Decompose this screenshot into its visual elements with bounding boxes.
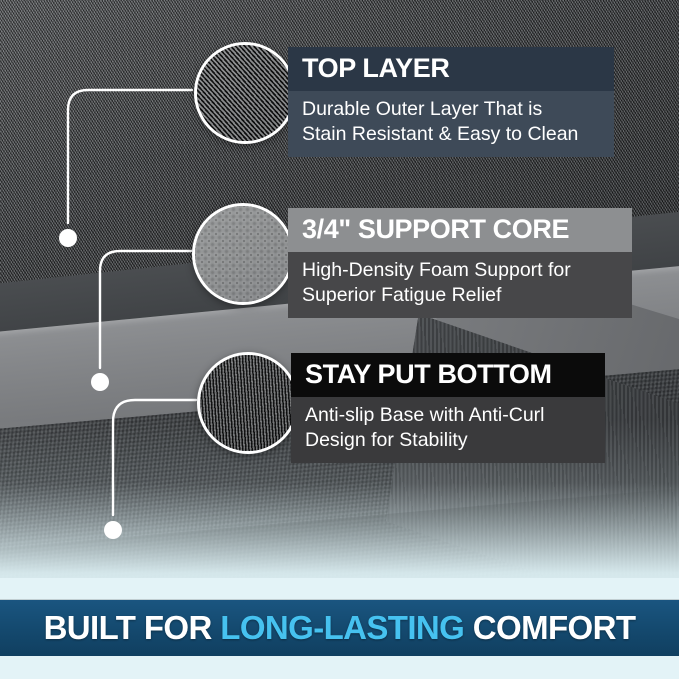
top-layer-texture-icon [194, 42, 296, 144]
banner-top-margin [0, 578, 679, 602]
swatch-circle-stay-put-bottom [197, 352, 299, 454]
callout-stay-put-bottom: STAY PUT BOTTOM Anti-slip Base with Anti… [291, 353, 605, 463]
banner-bottom-margin [0, 656, 679, 679]
callout-support-core-title: 3/4" SUPPORT CORE [288, 208, 632, 252]
bottom-banner-text: BUILT FOR LONG-LASTING COMFORT [44, 609, 636, 647]
banner-highlight-text: LONG-LASTING [220, 609, 464, 646]
infographic-canvas: TOP LAYER Durable Outer Layer That is St… [0, 0, 679, 679]
callout-support-core-description: High-Density Foam Support for Superior F… [288, 252, 632, 318]
callout-stay-put-bottom-description: Anti-slip Base with Anti-Curl Design for… [291, 397, 605, 463]
callout-support-core: 3/4" SUPPORT CORE High-Density Foam Supp… [288, 208, 632, 318]
callout-top-layer-title: TOP LAYER [288, 47, 614, 91]
banner-lead-text: BUILT FOR [44, 609, 221, 646]
support-core-texture-icon [192, 203, 294, 305]
stay-put-bottom-texture-icon [197, 352, 299, 454]
banner-trail-text: COMFORT [464, 609, 635, 646]
swatch-circle-support-core [192, 203, 294, 305]
bottom-banner: BUILT FOR LONG-LASTING COMFORT [0, 600, 679, 656]
swatch-circle-top-layer [194, 42, 296, 144]
callout-top-layer-description: Durable Outer Layer That is Stain Resist… [288, 91, 614, 157]
callout-top-layer: TOP LAYER Durable Outer Layer That is St… [288, 47, 614, 157]
callout-stay-put-bottom-title: STAY PUT BOTTOM [291, 353, 605, 397]
